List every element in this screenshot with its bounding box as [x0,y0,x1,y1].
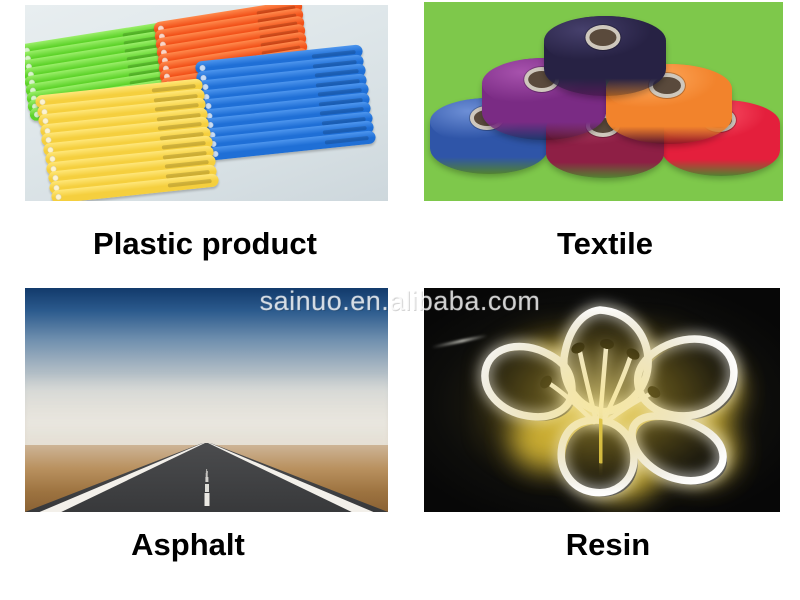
lane-dash [204,493,209,506]
image-asphalt [25,288,388,512]
caption-textile: Textile [410,226,800,262]
lane-dash [205,471,207,474]
lane-dash [206,469,208,471]
image-resin [424,288,780,512]
caption-resin: Resin [400,527,800,563]
clothespin-hole [39,98,46,105]
yarn-cone-core-hole [589,29,616,46]
image-textile [424,2,783,201]
image-plastic-product [25,5,388,201]
clothespin-hole [42,117,49,124]
caption-asphalt: Asphalt [0,527,376,563]
lane-dash [205,473,208,477]
application-grid: Plastic product Textile Asphalt [0,0,800,600]
asphalt-road-art [25,288,388,512]
yarn-cone-navy [544,16,666,96]
caption-plastic-product: Plastic product [0,226,410,262]
neon-glow [470,313,733,488]
resin-background [424,288,780,512]
lane-dash [205,477,208,482]
lane-dash [205,484,209,492]
clothespin-hole [55,193,62,200]
